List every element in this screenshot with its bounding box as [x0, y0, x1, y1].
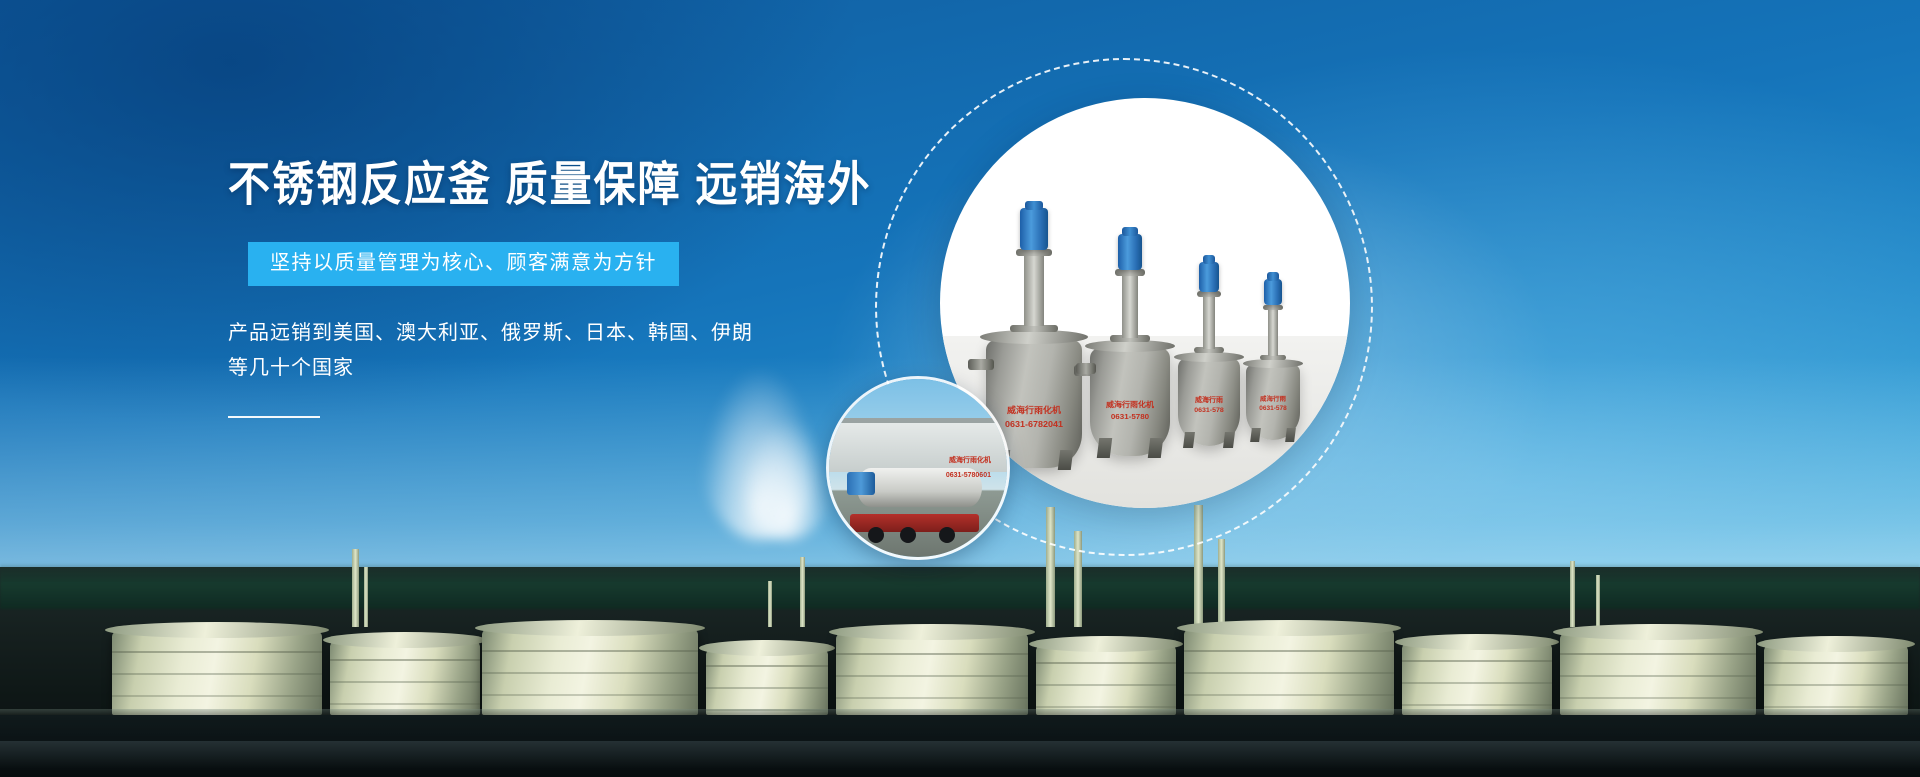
tagline-badge: 坚持以质量管理为核心、顾客满意为方针: [248, 242, 679, 286]
storage-tank: [1560, 633, 1756, 715]
storage-tank: [330, 641, 480, 715]
divider-rule: [228, 416, 320, 418]
transmission-tower-left: [352, 549, 359, 627]
storage-tank: [706, 649, 828, 715]
reactor-column: [1203, 295, 1215, 349]
reactor-foot: [1183, 432, 1195, 448]
smoke-plume-small-icon: [742, 420, 832, 540]
reactor-phone-label: 0631-578: [1246, 405, 1300, 413]
inset-wheel: [900, 527, 916, 543]
transmission-tower-mid-b: [768, 581, 772, 627]
reactor-foot: [1058, 450, 1073, 470]
reactor-flange: [1010, 325, 1058, 332]
chimney-d: [1218, 539, 1225, 627]
transmission-tower-mid: [800, 557, 805, 627]
reactor-brand-label: 威海行雨: [1180, 397, 1238, 405]
hero-banner: 不锈钢反应釜 质量保障 远销海外 坚持以质量管理为核心、顾客满意为方针 产品远销…: [0, 0, 1920, 777]
reactor-motor: [1118, 234, 1142, 270]
inset-motor: [847, 472, 875, 495]
reactor-nozzle: [968, 359, 994, 370]
reactor-phone-label: 0631-5780: [1094, 412, 1166, 422]
reactor-column: [1268, 308, 1278, 356]
reactor-motor: [1199, 262, 1219, 292]
inset-phone-label: 0631-5780601: [946, 472, 991, 480]
reactor-motor: [1020, 208, 1048, 250]
storage-tank: [836, 633, 1028, 715]
reactor-vessel: 威海行雨化机 0631-5780: [1090, 228, 1170, 456]
banner-copy: 不锈钢反应釜 质量保障 远销海外 坚持以质量管理为核心、顾客满意为方针 产品远销…: [228, 160, 848, 418]
storage-tank: [1184, 629, 1394, 715]
reactor-column: [1024, 252, 1044, 326]
reactor-brand-label: 威海行雨化机: [1094, 400, 1166, 410]
water-reflection: [0, 741, 1920, 769]
reactor-foot: [1285, 428, 1296, 442]
reactor-lid: [1174, 352, 1243, 362]
description-paragraph: 产品远销到美国、澳大利亚、俄罗斯、日本、韩国、伊朗 等几十个国家: [228, 316, 848, 386]
storage-tank: [1036, 645, 1176, 715]
reactor-foot: [1250, 428, 1261, 442]
inset-brand-label: 威海行雨化机: [949, 457, 991, 465]
description-line-2: 等几十个国家: [228, 351, 848, 386]
storage-tank: [482, 629, 698, 715]
reactor-top-flange: [1263, 305, 1283, 310]
reactor-motor: [1264, 279, 1282, 305]
reactor-brand-label: 威海行雨: [1246, 396, 1300, 404]
reactor-lid: [1243, 359, 1303, 368]
reactor-foot: [1097, 438, 1112, 458]
description-line-1: 产品远销到美国、澳大利亚、俄罗斯、日本、韩国、伊朗: [228, 316, 848, 351]
reactor-vessel: 威海行雨 0631-578: [1246, 264, 1300, 440]
reactor-column: [1122, 274, 1138, 338]
reactor-nozzle: [1076, 363, 1096, 374]
reactor-foot: [1223, 432, 1235, 448]
storage-tank: [1402, 643, 1552, 715]
page-title: 不锈钢反应釜 质量保障 远销海外: [228, 160, 848, 209]
reactor-phone-label: 0631-578: [1180, 407, 1238, 415]
reactor-foot: [1148, 438, 1163, 458]
storage-tank: [112, 631, 322, 715]
storage-tank: [1764, 645, 1908, 715]
reactor-top-flange: [1016, 249, 1052, 256]
transmission-tower-right-b: [1596, 575, 1600, 627]
inset-wheel: [868, 527, 884, 543]
reactor-vessel: 威海行雨 0631-578: [1178, 250, 1240, 446]
factory-photo-inset: 威海行雨化机 0631-5780601: [826, 376, 1010, 560]
transmission-tower-left-b: [364, 567, 368, 627]
reactor-lid: [980, 330, 1088, 344]
treeline: [0, 563, 1920, 609]
reactor-top-flange: [1115, 269, 1145, 276]
transmission-tower-right: [1570, 561, 1575, 627]
